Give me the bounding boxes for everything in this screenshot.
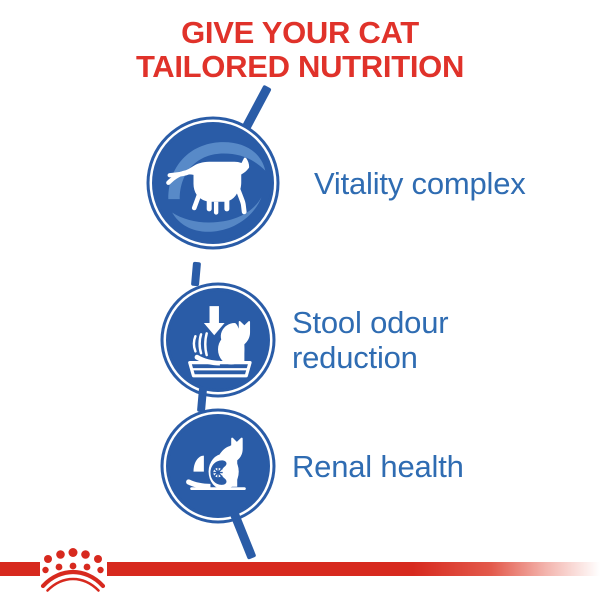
- headline-line-1: GIVE YOUR CAT: [0, 16, 600, 50]
- cat-kidney-icon: [166, 414, 270, 518]
- dashed-connector-line-mid-1: [191, 262, 201, 287]
- headline-line-2: TAILORED NUTRITION: [0, 50, 600, 84]
- dashed-connector-line-mid-2: [197, 388, 207, 413]
- feature-label-line-1: Renal health: [292, 449, 464, 484]
- brand-band-right-segment: [107, 562, 600, 576]
- walking-cat-icon: [152, 122, 274, 244]
- brand-band-left-segment: [0, 562, 40, 576]
- cat-litter-box-odour-icon: [166, 288, 270, 392]
- feature-label-line-2: reduction: [292, 340, 448, 375]
- feature-label-stool-odour-reduction: Stool odour reduction: [292, 305, 448, 375]
- feature-label-renal-health: Renal health: [292, 449, 464, 484]
- royal-canin-crown-logo: [38, 545, 108, 593]
- feature-item-vitality-complex: Vitality complex: [152, 122, 526, 244]
- feature-label-vitality-complex: Vitality complex: [314, 166, 526, 201]
- feature-label-line-1: Vitality complex: [314, 166, 526, 201]
- page-title: GIVE YOUR CAT TAILORED NUTRITION: [0, 16, 600, 84]
- feature-item-stool-odour-reduction: Stool odour reduction: [166, 288, 448, 392]
- feature-label-line-1: Stool odour: [292, 305, 448, 340]
- infographic-page: GIVE YOUR CAT TAILORED NUTRITION: [0, 0, 600, 600]
- feature-item-renal-health: Renal health: [166, 414, 464, 518]
